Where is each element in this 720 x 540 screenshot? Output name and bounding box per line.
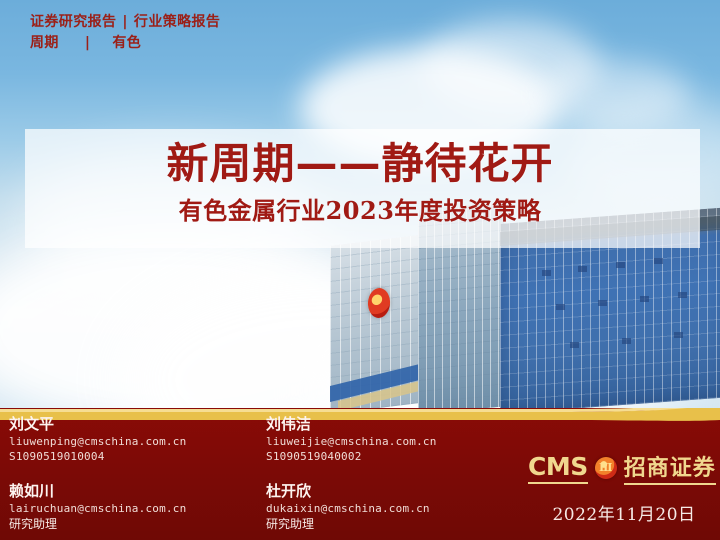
window-highlight (616, 262, 625, 268)
header-report-type: 证券研究报告 (30, 14, 116, 30)
header-sector-cycle: 周期 (30, 35, 59, 51)
window-highlight (542, 270, 551, 276)
author-email[interactable]: dukaixin@cmschina.com.cn (266, 501, 430, 516)
author-block-1: 刘文平 liuwenping@cmschina.com.cn S10905190… (9, 414, 186, 464)
window-highlight (674, 332, 683, 338)
author-detail: S1090519040002 (266, 449, 437, 464)
author-detail: S1090519010004 (9, 449, 186, 464)
window-highlight (570, 342, 579, 348)
header-line-1: 证券研究报告|行业策略报告 (30, 12, 220, 33)
window-highlight (598, 300, 607, 306)
cover-slide: 证券研究报告|行业策略报告 周期|有色 新周期——静待花开 有色金属行业2023… (0, 0, 720, 540)
author-detail: 研究助理 (9, 516, 186, 533)
window-highlight (578, 266, 587, 272)
page-subtitle: 有色金属行业2023年度投资策略 (0, 196, 720, 226)
cms-logo: CMS Ⅲ 招商证券 (528, 450, 716, 485)
cloud-icon (540, 60, 690, 130)
author-email[interactable]: liuweijie@cmschina.com.cn (266, 434, 437, 449)
page-title: 新周期——静待花开 (0, 140, 720, 188)
cms-emblem-icon: Ⅲ (595, 457, 617, 479)
author-email[interactable]: liuwenping@cmschina.com.cn (9, 434, 186, 449)
header-separator: | (59, 35, 113, 51)
author-email[interactable]: lairuchuan@cmschina.com.cn (9, 501, 186, 516)
author-name: 赖如川 (9, 481, 186, 501)
header-line-2: 周期|有色 (30, 33, 220, 54)
title-block: 新周期——静待花开 有色金属行业2023年度投资策略 (0, 140, 720, 226)
window-highlight (622, 338, 631, 344)
publish-date: 2022年11月20日 (536, 500, 712, 525)
window-highlight (556, 304, 565, 310)
header-separator: | (116, 14, 134, 30)
cms-wordmark: CMS (528, 452, 588, 484)
author-block-4: 杜开欣 dukaixin@cmschina.com.cn 研究助理 (266, 481, 430, 533)
cms-building-emblem-icon (367, 286, 392, 320)
cms-chinese-name: 招商证券 (624, 450, 716, 485)
window-highlight (654, 258, 663, 264)
building-left-wing (330, 235, 422, 412)
author-detail: 研究助理 (266, 516, 430, 533)
window-highlight (640, 296, 649, 302)
author-block-2: 刘伟洁 liuweijie@cmschina.com.cn S109051904… (266, 414, 437, 464)
author-name: 刘伟洁 (266, 414, 437, 434)
header-sector-metals: 有色 (112, 35, 141, 51)
header-report-category: 行业策略报告 (134, 14, 220, 30)
author-block-3: 赖如川 lairuchuan@cmschina.com.cn 研究助理 (9, 481, 186, 533)
report-header: 证券研究报告|行业策略报告 周期|有色 (30, 12, 220, 54)
author-name: 刘文平 (9, 414, 186, 434)
window-highlight (678, 292, 687, 298)
author-name: 杜开欣 (266, 481, 430, 501)
